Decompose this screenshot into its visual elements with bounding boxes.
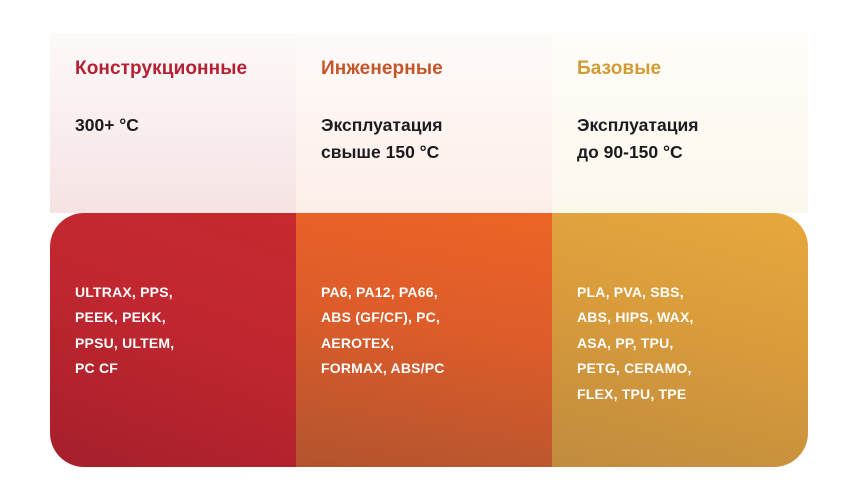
material-line: FORMAX, ABS/PC xyxy=(321,356,552,381)
material-line: PLA, PVA, SBS, xyxy=(577,280,808,305)
material-line: PEEK, PEKK, xyxy=(75,305,296,330)
material-line: PC CF xyxy=(75,356,296,381)
temperature-line-1: Эксплуатация xyxy=(321,112,531,139)
temperature-line-2: свыше 150 °C xyxy=(321,139,531,166)
category-temperature-basic: Эксплуатация до 90-150 °C xyxy=(577,112,787,166)
material-line: ULTRAX, PPS, xyxy=(75,280,296,305)
category-title-engineering: Инженерные xyxy=(321,58,552,80)
material-line: FLEX, TPU, TPE xyxy=(577,382,808,407)
category-header-strip: Конструкционные 300+ °C Инженерные Экспл… xyxy=(50,33,808,213)
material-block-structural: ULTRAX, PPS, PEEK, PEKK, PPSU, ULTEM, PC… xyxy=(50,213,296,467)
category-title-structural: Конструкционные xyxy=(75,58,296,80)
material-line: AEROTEX, xyxy=(321,331,552,356)
material-line: ABS (GF/CF), PC, xyxy=(321,305,552,330)
category-header-structural: Конструкционные 300+ °C xyxy=(50,33,296,213)
material-list-basic: PLA, PVA, SBS, ABS, HIPS, WAX, ASA, PP, … xyxy=(577,280,808,407)
material-block-basic: PLA, PVA, SBS, ABS, HIPS, WAX, ASA, PP, … xyxy=(552,213,808,467)
category-title-basic: Базовые xyxy=(577,58,808,80)
material-blocks-row: ULTRAX, PPS, PEEK, PEKK, PPSU, ULTEM, PC… xyxy=(50,213,808,467)
material-list-structural: ULTRAX, PPS, PEEK, PEKK, PPSU, ULTEM, PC… xyxy=(75,280,296,382)
material-line: PA6, PA12, PA66, xyxy=(321,280,552,305)
material-line: PETG, CERAMO, xyxy=(577,356,808,381)
category-temperature-structural: 300+ °C xyxy=(75,112,285,139)
materials-comparison-board: Конструкционные 300+ °C Инженерные Экспл… xyxy=(50,33,808,467)
material-list-engineering: PA6, PA12, PA66, ABS (GF/CF), PC, AEROTE… xyxy=(321,280,552,382)
category-header-engineering: Инженерные Эксплуатация свыше 150 °C xyxy=(296,33,552,213)
material-line: ASA, PP, TPU, xyxy=(577,331,808,356)
material-line: PPSU, ULTEM, xyxy=(75,331,296,356)
temperature-line-2: до 90-150 °C xyxy=(577,139,787,166)
material-line: ABS, HIPS, WAX, xyxy=(577,305,808,330)
temperature-line-1: Эксплуатация xyxy=(577,112,787,139)
category-header-basic: Базовые Эксплуатация до 90-150 °C xyxy=(552,33,808,213)
category-temperature-engineering: Эксплуатация свыше 150 °C xyxy=(321,112,531,166)
material-block-engineering: PA6, PA12, PA66, ABS (GF/CF), PC, AEROTE… xyxy=(296,213,552,467)
